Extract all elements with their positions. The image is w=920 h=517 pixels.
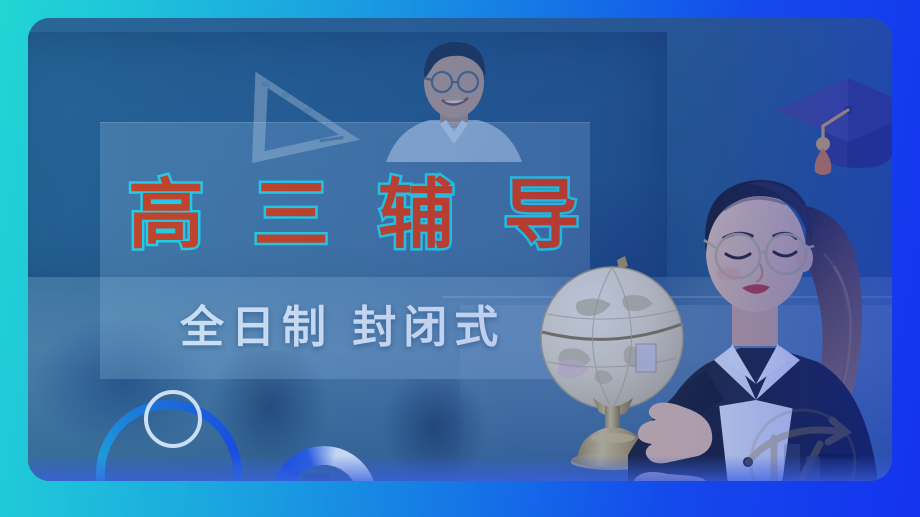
bottom-glow [28, 455, 892, 481]
poster-canvas: 40 30 20 10 [0, 0, 920, 517]
poster-stage: 40 30 20 10 [28, 18, 892, 481]
background-color-tint [28, 18, 892, 481]
